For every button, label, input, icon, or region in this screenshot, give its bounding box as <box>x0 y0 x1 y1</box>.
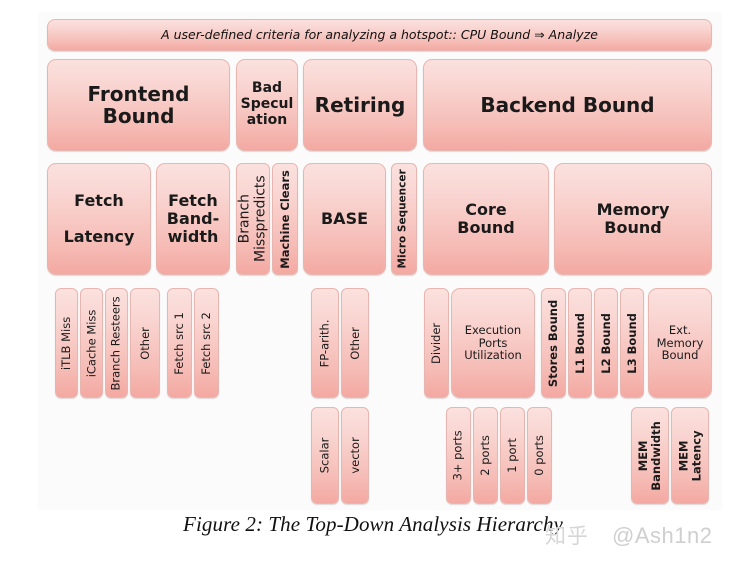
node-mem-bandwidth[interactable]: MEM Bandwidth <box>631 407 669 504</box>
node-machine-clears-label: Machine Clears <box>279 170 292 269</box>
node-frontend-other-label: Other <box>139 327 152 360</box>
node-retiring[interactable]: Retiring <box>303 59 417 151</box>
node-execution-ports-utilization-label: Execution Ports Utilization <box>464 324 522 363</box>
node-itlb-miss-label: iTLB Miss <box>60 316 73 369</box>
node-3-plus-ports[interactable]: 3+ ports <box>446 407 471 504</box>
node-fetch-bandwidth-label: Fetch Band- width <box>167 192 219 246</box>
node-core-bound-label: Core Bound <box>457 201 514 237</box>
header-criteria-banner: A user-defined criteria for analyzing a … <box>47 19 712 51</box>
node-memory-bound-label: Memory Bound <box>597 201 670 237</box>
node-frontend-bound[interactable]: Frontend Bound <box>47 59 230 151</box>
node-stores-bound-label: Stores Bound <box>547 299 560 386</box>
node-core-bound[interactable]: Core Bound <box>423 163 549 275</box>
node-vector-label: vector <box>349 437 362 473</box>
node-mem-latency[interactable]: MEM Latency <box>671 407 709 504</box>
node-mem-latency-label: MEM Latency <box>677 430 703 481</box>
node-bad-speculation-label: Bad Specul ation <box>241 81 294 128</box>
node-base-label: BASE <box>321 210 368 228</box>
node-l3-bound[interactable]: L3 Bound <box>620 288 644 398</box>
node-execution-ports-utilization[interactable]: Execution Ports Utilization <box>451 288 535 398</box>
node-fetch-src-1-label: Fetch src 1 <box>173 312 186 375</box>
node-icache-miss-label: iCache Miss <box>85 309 98 377</box>
node-fetch-bandwidth[interactable]: Fetch Band- width <box>156 163 230 275</box>
node-retiring-label: Retiring <box>315 94 406 116</box>
node-branch-misspredicts[interactable]: Branch Misspredicts <box>236 163 270 275</box>
node-l1-bound[interactable]: L1 Bound <box>568 288 592 398</box>
node-backend-bound-label: Backend Bound <box>480 94 654 116</box>
top-down-analysis-hierarchy-figure: A user-defined criteria for analyzing a … <box>0 0 746 572</box>
node-l3-bound-label: L3 Bound <box>626 313 639 374</box>
node-micro-sequencer[interactable]: Micro Sequencer <box>391 163 417 275</box>
node-mem-bandwidth-label: MEM Bandwidth <box>637 421 663 490</box>
node-machine-clears[interactable]: Machine Clears <box>272 163 298 275</box>
node-3-plus-ports-label: 3+ ports <box>452 430 465 480</box>
node-backend-bound[interactable]: Backend Bound <box>423 59 712 151</box>
node-1-port-label: 1 port <box>506 438 519 473</box>
node-branch-resteers-label: Branch Resteers <box>110 296 123 390</box>
node-retiring-other[interactable]: Other <box>341 288 369 398</box>
node-retiring-other-label: Other <box>349 327 362 360</box>
node-base[interactable]: BASE <box>303 163 386 275</box>
figure-caption: Figure 2: The Top-Down Analysis Hierarch… <box>0 512 746 537</box>
node-frontend-other[interactable]: Other <box>130 288 160 398</box>
node-fetch-src-1[interactable]: Fetch src 1 <box>167 288 192 398</box>
node-vector[interactable]: vector <box>341 407 369 504</box>
node-1-port[interactable]: 1 port <box>500 407 525 504</box>
node-itlb-miss[interactable]: iTLB Miss <box>55 288 78 398</box>
node-divider-label: Divider <box>430 322 443 363</box>
node-divider[interactable]: Divider <box>424 288 449 398</box>
node-scalar[interactable]: Scalar <box>311 407 339 504</box>
node-0-ports-label: 0 ports <box>533 435 546 476</box>
node-ext-memory-bound[interactable]: Ext. Memory Bound <box>648 288 712 398</box>
node-branch-resteers[interactable]: Branch Resteers <box>105 288 128 398</box>
node-fp-arith[interactable]: FP-arith. <box>311 288 339 398</box>
node-l2-bound-label: L2 Bound <box>600 313 613 374</box>
node-0-ports[interactable]: 0 ports <box>527 407 552 504</box>
node-fp-arith-label: FP-arith. <box>319 319 332 367</box>
node-l1-bound-label: L1 Bound <box>574 313 587 374</box>
header-criteria-label: A user-defined criteria for analyzing a … <box>161 28 598 42</box>
node-memory-bound[interactable]: Memory Bound <box>554 163 712 275</box>
node-fetch-latency-label: Fetch Latency <box>64 192 135 246</box>
node-2-ports-label: 2 ports <box>479 435 492 476</box>
node-stores-bound[interactable]: Stores Bound <box>541 288 566 398</box>
node-2-ports[interactable]: 2 ports <box>473 407 498 504</box>
node-fetch-latency[interactable]: Fetch Latency <box>47 163 151 275</box>
node-branch-misspredicts-label: Branch Misspredicts <box>237 176 268 263</box>
node-fetch-src-2-label: Fetch src 2 <box>200 312 213 375</box>
node-fetch-src-2[interactable]: Fetch src 2 <box>194 288 219 398</box>
node-scalar-label: Scalar <box>319 438 332 474</box>
node-icache-miss[interactable]: iCache Miss <box>80 288 103 398</box>
node-bad-speculation[interactable]: Bad Specul ation <box>236 59 298 151</box>
node-l2-bound[interactable]: L2 Bound <box>594 288 618 398</box>
node-micro-sequencer-label: Micro Sequencer <box>398 169 410 268</box>
node-frontend-bound-label: Frontend Bound <box>88 83 190 128</box>
node-ext-memory-bound-label: Ext. Memory Bound <box>657 324 704 363</box>
